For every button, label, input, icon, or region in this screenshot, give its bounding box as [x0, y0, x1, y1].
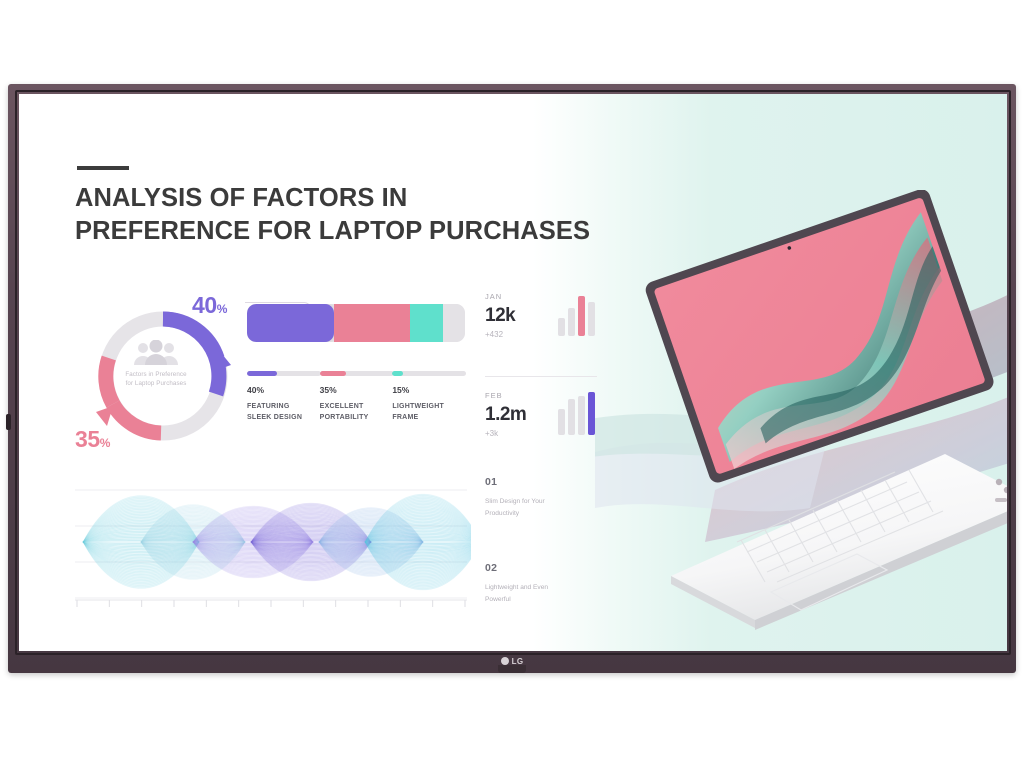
donut-value-40: 40% — [192, 292, 227, 319]
bar-segment-3 — [443, 304, 465, 342]
legend-label: LIGHTWEIGHTFRAME — [392, 402, 451, 424]
donut-value-40-unit: % — [217, 302, 228, 316]
bar-segment-2 — [410, 304, 443, 342]
legend-mini-fill — [247, 371, 277, 376]
list-item-text-line-2: Productivity — [485, 510, 519, 517]
list-item-text-line-1: Slim Design for Your — [485, 498, 545, 505]
monitor-screen: ANALYSIS OF FACTORS IN PREFERENCE FOR LA… — [19, 94, 1007, 651]
donut-value-35-unit: % — [100, 436, 111, 450]
sparkline — [558, 395, 595, 435]
kpi-stats: JAN12k+432FEB1.2m+3k — [485, 292, 597, 469]
spark-bar-3 — [588, 392, 595, 435]
title-rule — [77, 166, 129, 170]
page-title: ANALYSIS OF FACTORS IN PREFERENCE FOR LA… — [75, 182, 635, 247]
stacked-bar-track — [247, 304, 465, 342]
presentation-slide: ANALYSIS OF FACTORS IN PREFERENCE FOR LA… — [19, 94, 1007, 651]
donut-caption-line-2: for Laptop Purchases — [126, 380, 187, 387]
title-line-1: ANALYSIS OF FACTORS IN — [75, 182, 635, 215]
spark-bar-3 — [588, 302, 595, 336]
donut-caption: Factors in Preference for Laptop Purchas… — [103, 371, 209, 389]
spark-bar-2 — [578, 296, 585, 336]
legend-label-line-1: LIGHTWEIGHT — [392, 403, 444, 410]
bar-segment-1 — [334, 304, 410, 342]
legend-label: EXCELLENTPORTABILITY — [320, 402, 379, 424]
stacked-bar-chart: 40%FEATURINGSLEEK DESIGN35%EXCELLENTPORT… — [247, 304, 465, 424]
donut-caption-line-1: Factors in Preference — [125, 371, 186, 378]
monitor-stand-mount — [498, 665, 526, 673]
legend-item-2: 15%LIGHTWEIGHTFRAME — [392, 371, 465, 424]
legend-item-1: 35%EXCELLENTPORTABILITY — [320, 371, 393, 424]
legend-label-line-1: EXCELLENT — [320, 403, 364, 410]
legend-label: FEATURINGSLEEK DESIGN — [247, 402, 306, 424]
legend-percent: 15% — [392, 385, 451, 395]
stat-card-jan: JAN12k+432 — [485, 292, 597, 370]
list-item-index: 02 — [485, 562, 597, 574]
list-item-text: Lightweight and EvenPowerful — [485, 582, 597, 605]
bar-segment-0 — [247, 304, 334, 342]
donut-value-35-number: 35 — [75, 426, 100, 452]
legend-mini-track — [320, 371, 394, 376]
legend-percent: 40% — [247, 385, 306, 395]
waveform-svg — [71, 472, 471, 624]
legend: 40%FEATURINGSLEEK DESIGN35%EXCELLENTPORT… — [247, 371, 465, 424]
spark-bar-2 — [578, 396, 585, 435]
donut-chart: Factors in Preference for Laptop Purchas… — [69, 288, 259, 468]
people-group-icon — [133, 340, 179, 366]
spark-bar-1 — [568, 308, 575, 336]
spark-bar-0 — [558, 409, 565, 435]
list-item-index: 01 — [485, 476, 597, 488]
list-item-text-line-1: Lightweight and Even — [485, 584, 548, 591]
lg-monitor: ANALYSIS OF FACTORS IN PREFERENCE FOR LA… — [8, 84, 1016, 673]
lg-logo-dot — [501, 657, 509, 665]
legend-label-line-1: FEATURING — [247, 403, 290, 410]
list-item-text: Slim Design for YourProductivity — [485, 496, 597, 519]
legend-mini-track — [392, 371, 466, 376]
legend-label-line-2: FRAME — [392, 414, 418, 421]
legend-mini-fill — [320, 371, 346, 376]
donut-value-35: 35% — [75, 426, 110, 453]
stat-card-feb: FEB1.2m+3k — [485, 391, 597, 469]
waveform-chart — [71, 472, 471, 624]
spark-bar-0 — [558, 318, 565, 336]
monitor-power-button[interactable] — [6, 414, 11, 430]
list-item: 02Lightweight and EvenPowerful — [485, 562, 597, 605]
numbered-list: 01Slim Design for YourProductivity02Ligh… — [485, 476, 597, 648]
sparkline — [558, 296, 595, 336]
legend-percent: 35% — [320, 385, 379, 395]
legend-mini-track — [247, 371, 321, 376]
donut-center-label: Factors in Preference for Laptop Purchas… — [103, 340, 209, 389]
legend-label-line-2: PORTABILITY — [320, 414, 369, 421]
stat-divider — [485, 376, 597, 377]
list-item-text-line-2: Powerful — [485, 596, 511, 603]
title-line-2: PREFERENCE FOR LAPTOP PURCHASES — [75, 215, 635, 248]
list-item: 01Slim Design for YourProductivity — [485, 476, 597, 519]
laptop-product-image — [595, 190, 1007, 651]
donut-value-40-number: 40 — [192, 292, 217, 318]
spark-bar-1 — [568, 399, 575, 435]
legend-label-line-2: SLEEK DESIGN — [247, 414, 302, 421]
legend-item-0: 40%FEATURINGSLEEK DESIGN — [247, 371, 320, 424]
legend-mini-fill — [392, 371, 403, 376]
